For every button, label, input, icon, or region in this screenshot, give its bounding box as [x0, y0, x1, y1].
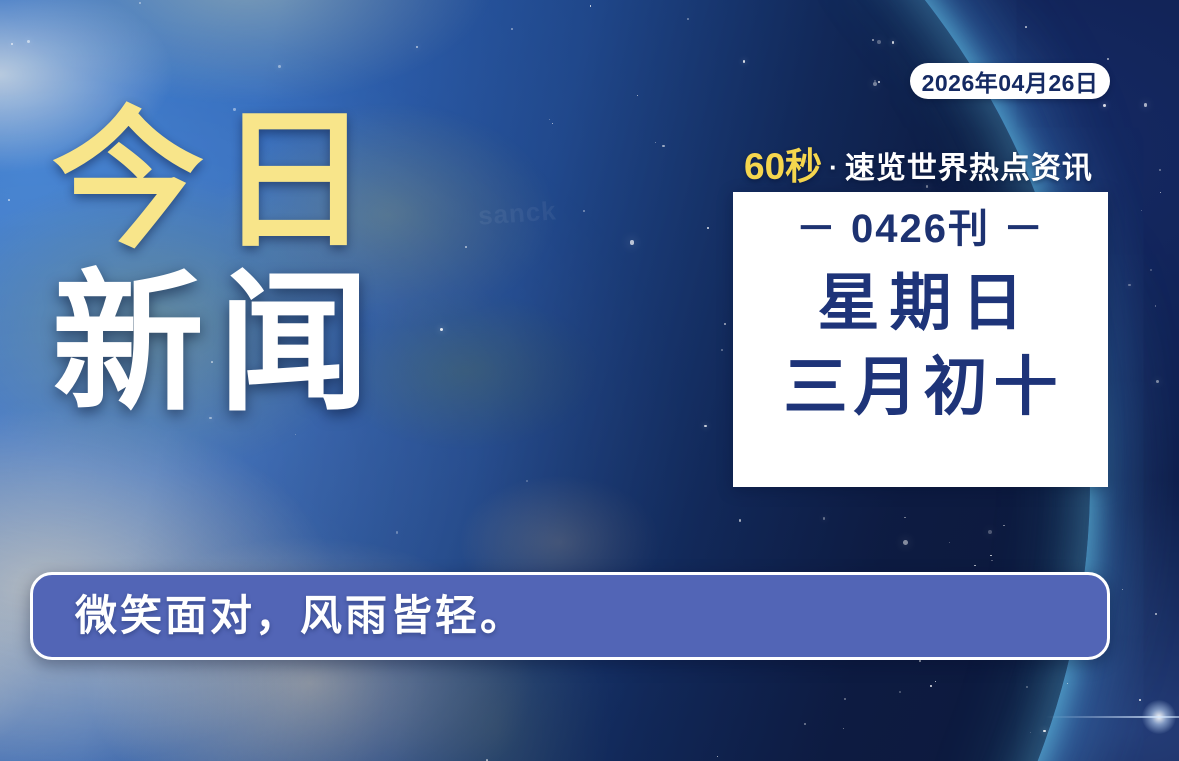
title-line-news: 新闻	[52, 267, 472, 422]
quote-bar: 微笑面对，风雨皆轻。	[30, 572, 1110, 660]
news-poster: sanck 今日 新闻 2026年04月26日 60秒 · 速览世界热点资讯 －…	[0, 0, 1179, 761]
subtitle: 60秒 · 速览世界热点资讯	[744, 143, 1093, 185]
subtitle-duration: 60秒	[744, 148, 822, 185]
bright-star-flare-icon	[1142, 700, 1176, 734]
info-card: － 0426刊 － 星期日 三月初十	[733, 192, 1108, 487]
weekday-label: 星期日	[807, 270, 1033, 338]
page-title: 今日 新闻	[52, 104, 472, 422]
subtitle-separator: ·	[829, 154, 838, 180]
title-line-today: 今日	[52, 104, 472, 259]
date-badge: 2026年04月26日	[910, 63, 1110, 99]
subtitle-text: 速览世界热点资讯	[845, 154, 1093, 185]
lunar-date-label: 三月初十	[778, 352, 1064, 422]
issue-number: － 0426刊 －	[796, 206, 1045, 252]
quote-text: 微笑面对，风雨皆轻。	[75, 595, 525, 637]
